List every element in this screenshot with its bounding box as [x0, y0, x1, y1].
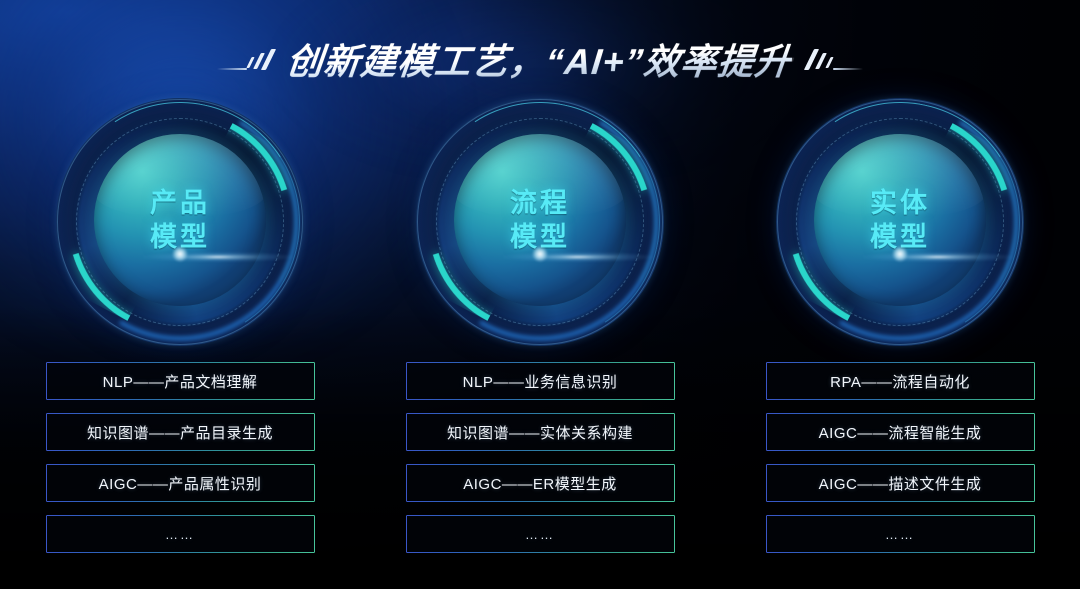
badge-process-model[interactable]: 流程 模型	[416, 98, 664, 346]
badge-label-line1: 产品	[150, 186, 210, 220]
badge-inner-disc: 流程 模型	[454, 134, 626, 306]
list-item-label: AIGC——ER模型生成	[463, 473, 617, 494]
item-list-entity-model: RPA——流程自动化 AIGC——流程智能生成 AIGC——描述文件生成 ……	[766, 362, 1035, 553]
badge-label-line1: 流程	[510, 186, 570, 220]
list-item-label: ……	[885, 527, 915, 542]
slash-decor-left-icon	[215, 44, 273, 74]
list-item-label: ……	[525, 527, 555, 542]
list-item-label: AIGC——流程智能生成	[819, 422, 982, 443]
badge-inner-disc: 实体 模型	[814, 134, 986, 306]
list-item-label: 知识图谱——产品目录生成	[87, 422, 273, 443]
badge-label-line2: 模型	[510, 220, 570, 254]
list-item-label: RPA——流程自动化	[830, 371, 970, 392]
badge-label-line2: 模型	[870, 220, 930, 254]
column-process-model: 流程 模型 NLP——业务信息识别 知识图谱——实体关系构建 AIGC——ER模…	[360, 96, 720, 566]
list-item-ellipsis[interactable]: ……	[406, 515, 675, 553]
list-item-label: NLP——业务信息识别	[463, 371, 618, 392]
list-item-label: AIGC——描述文件生成	[819, 473, 982, 494]
list-item[interactable]: 知识图谱——实体关系构建	[406, 413, 675, 451]
list-item[interactable]: AIGC——流程智能生成	[766, 413, 1035, 451]
list-item-label: AIGC——产品属性识别	[99, 473, 262, 494]
list-item-label: NLP——产品文档理解	[103, 371, 258, 392]
slide-root: 创新建模工艺，“AI+”效率提升 产品 模型	[0, 0, 1080, 589]
list-item[interactable]: NLP——业务信息识别	[406, 362, 675, 400]
item-list-process-model: NLP——业务信息识别 知识图谱——实体关系构建 AIGC——ER模型生成 ……	[406, 362, 675, 553]
list-item[interactable]: AIGC——产品属性识别	[46, 464, 315, 502]
list-item-label: 知识图谱——实体关系构建	[447, 422, 633, 443]
column-product-model: 产品 模型 NLP——产品文档理解 知识图谱——产品目录生成 AIGC——产品属…	[0, 96, 360, 566]
list-item-ellipsis[interactable]: ……	[46, 515, 315, 553]
list-item[interactable]: RPA——流程自动化	[766, 362, 1035, 400]
badge-label-line2: 模型	[150, 220, 210, 254]
list-item-ellipsis[interactable]: ……	[766, 515, 1035, 553]
badge-label-line1: 实体	[870, 186, 930, 220]
column-entity-model: 实体 模型 RPA——流程自动化 AIGC——流程智能生成 AIGC——描述文件…	[720, 96, 1080, 566]
list-item[interactable]: AIGC——描述文件生成	[766, 464, 1035, 502]
badge-inner-disc: 产品 模型	[94, 134, 266, 306]
list-item-label: ……	[165, 527, 195, 542]
item-list-product-model: NLP——产品文档理解 知识图谱——产品目录生成 AIGC——产品属性识别 ……	[46, 362, 315, 553]
list-item[interactable]: NLP——产品文档理解	[46, 362, 315, 400]
list-item[interactable]: 知识图谱——产品目录生成	[46, 413, 315, 451]
badge-entity-model[interactable]: 实体 模型	[776, 98, 1024, 346]
badge-product-model[interactable]: 产品 模型	[56, 98, 304, 346]
page-title: 创新建模工艺，“AI+”效率提升	[285, 33, 795, 85]
title-row: 创新建模工艺，“AI+”效率提升	[0, 33, 1080, 85]
list-item[interactable]: AIGC——ER模型生成	[406, 464, 675, 502]
slash-decor-right-icon	[807, 44, 865, 74]
model-columns: 产品 模型 NLP——产品文档理解 知识图谱——产品目录生成 AIGC——产品属…	[0, 96, 1080, 566]
